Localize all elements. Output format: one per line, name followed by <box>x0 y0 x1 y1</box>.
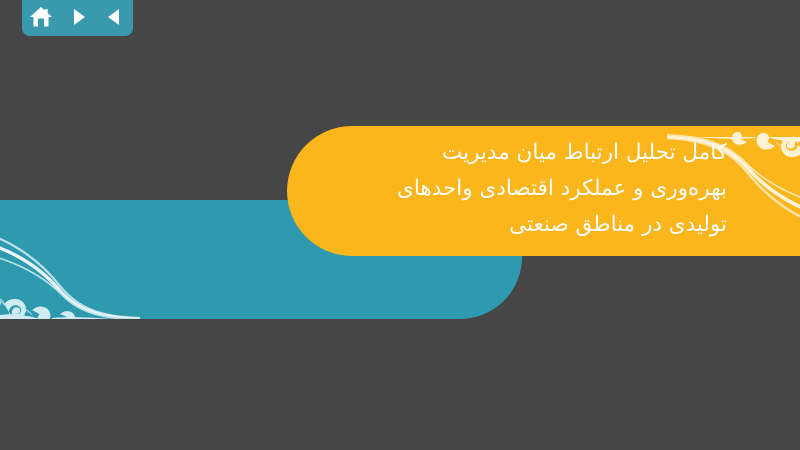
teal-arabesque-ornament-icon <box>0 200 140 319</box>
next-slide-button[interactable] <box>64 4 92 30</box>
home-button[interactable] <box>27 4 55 30</box>
orange-title-banner: کامل تحلیل ارتباط میان مدیریت بهره‌وری و… <box>287 126 800 256</box>
previous-slide-button[interactable] <box>101 4 129 30</box>
navigation-toolbar <box>22 0 133 36</box>
triangle-left-icon <box>105 7 125 27</box>
home-icon <box>29 6 53 28</box>
slide-title: کامل تحلیل ارتباط میان مدیریت بهره‌وری و… <box>347 135 727 243</box>
presentation-slide: کامل تحلیل ارتباط میان مدیریت بهره‌وری و… <box>0 0 800 450</box>
triangle-right-icon <box>68 7 88 27</box>
